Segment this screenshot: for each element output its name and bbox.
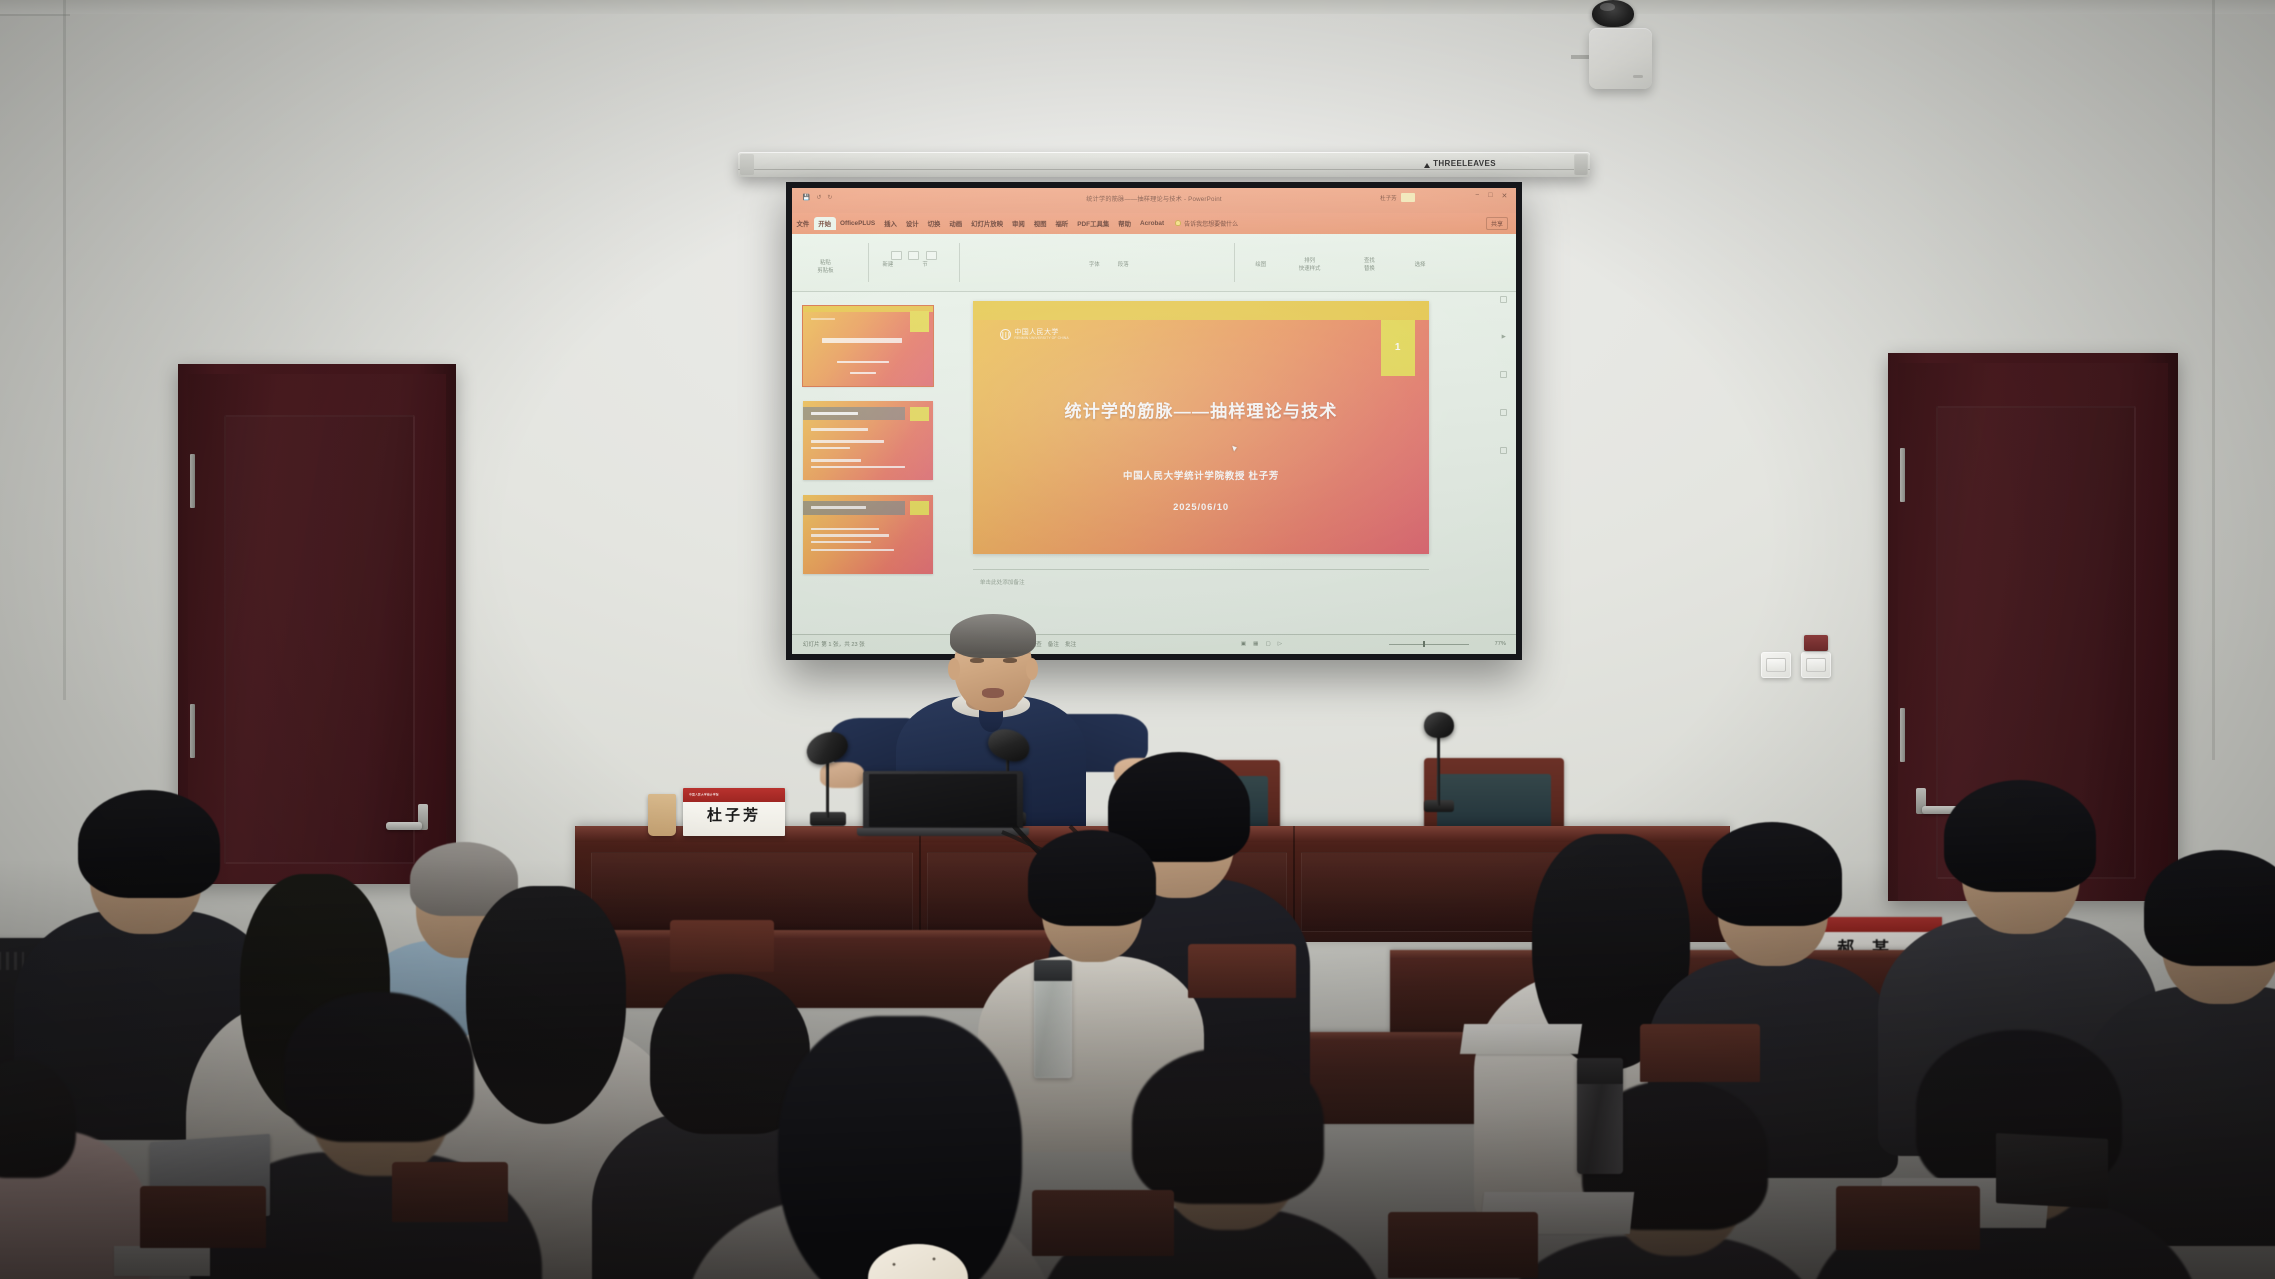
zoom-slider[interactable] xyxy=(1389,644,1469,645)
light-switch-panel[interactable] xyxy=(1761,652,1791,678)
ribbon-group-font[interactable]: 字体 xyxy=(1089,261,1100,269)
presenter-laptop-base xyxy=(857,828,1029,836)
emergency-indicator xyxy=(1804,635,1828,651)
thumb-1-numbox xyxy=(910,311,929,332)
thumb-2-numbox xyxy=(910,407,929,421)
thumb-2-line-4 xyxy=(811,459,860,462)
door-right-hinge-top xyxy=(1900,448,1905,502)
right-task-rail[interactable]: ▶ xyxy=(1496,296,1512,578)
section-label: 节 xyxy=(922,262,927,268)
ribbon-group-arrange[interactable]: 排列 快速样式 xyxy=(1299,257,1321,273)
renmin-logo-icon xyxy=(1000,329,1011,340)
door-left-leaf xyxy=(188,374,446,884)
paper-cup[interactable] xyxy=(648,794,676,836)
view-buttons[interactable]: ▣ ▦ ▢ ▷ xyxy=(1241,641,1282,647)
rail-chip-3[interactable] xyxy=(1500,409,1507,416)
tab-design[interactable]: 设计 xyxy=(901,219,923,228)
slide-title: 统计学的筋脉——抽样理论与技术 xyxy=(973,397,1429,422)
tab-view[interactable]: 视图 xyxy=(1029,219,1051,228)
slide-presenter: 中国人民大学统计学院教授 杜子芳 xyxy=(973,468,1429,482)
minimize-icon[interactable]: − xyxy=(1475,192,1479,200)
rail-chip-1[interactable] xyxy=(1500,296,1507,303)
play-icon[interactable]: ▶ xyxy=(1502,334,1506,340)
slide-thumbnail-2[interactable] xyxy=(803,401,933,481)
tab-review[interactable]: 审阅 xyxy=(1008,219,1030,228)
door-left-handle[interactable] xyxy=(386,822,422,830)
tab-pdf-tools[interactable]: PDF工具集 xyxy=(1073,219,1114,228)
door-left[interactable] xyxy=(178,364,456,884)
housing-endcap-left xyxy=(740,154,754,175)
slide-thumbnail-pane[interactable] xyxy=(798,292,939,654)
door-left-panel xyxy=(224,415,415,864)
ribbon-group-section[interactable]: 节 xyxy=(922,261,927,269)
tab-help[interactable]: 帮助 xyxy=(1114,219,1136,228)
wifi-access-point-icon xyxy=(1589,28,1652,89)
powerpoint-titlebar: 💾 ↺ ↻ 统计学的筋脉——抽样理论与技术 - PowerPoint 杜子芳 −… xyxy=(792,188,1516,213)
attendee-13-hair xyxy=(778,1016,1022,1279)
slide-canvas[interactable]: 1 中国人民大学 RENMIN UNIVERSITY OF CHINA 统计学的… xyxy=(948,292,1455,654)
presenter-hair xyxy=(950,614,1036,658)
power-socket-panel[interactable] xyxy=(1801,652,1831,678)
powerpoint-body: 1 中国人民大学 RENMIN UNIVERSITY OF CHINA 统计学的… xyxy=(792,292,1516,654)
tab-transitions[interactable]: 切换 xyxy=(923,219,945,228)
presenter-ear-right xyxy=(1026,658,1038,680)
ribbon-group-slides[interactable]: 新建 xyxy=(883,261,894,269)
power-socket-face[interactable] xyxy=(1806,658,1826,673)
nameplate-name-text: 杜子芳 xyxy=(683,804,785,825)
ribbon-group-drawing[interactable]: 绘图 xyxy=(1255,261,1266,269)
select-label: 选择 xyxy=(1415,262,1426,268)
mouse-cursor-icon xyxy=(1232,445,1238,452)
normal-view-icon[interactable]: ▣ xyxy=(1241,641,1246,647)
quick-styles-label: 快速样式 xyxy=(1299,266,1321,272)
lightbulb-icon xyxy=(1175,220,1181,226)
thumb-1-sub-line xyxy=(837,361,889,364)
thumb-3-line-1 xyxy=(811,528,879,530)
tell-me-box[interactable]: 告诉我您想要做什么 xyxy=(1175,219,1238,228)
notes-divider xyxy=(973,569,1429,570)
ceiling-trim xyxy=(0,0,2275,14)
tell-me-text: 告诉我您想要做什么 xyxy=(1184,219,1238,228)
thumb-3-line-3 xyxy=(811,541,871,543)
close-icon[interactable]: ✕ xyxy=(1501,192,1507,200)
slide-sorter-view-icon[interactable]: ▦ xyxy=(1253,641,1258,647)
logo-text: 中国人民大学 RENMIN UNIVERSITY OF CHINA xyxy=(1014,329,1068,341)
current-slide[interactable]: 1 中国人民大学 RENMIN UNIVERSITY OF CHINA 统计学的… xyxy=(973,301,1429,554)
room-floor-shadow xyxy=(0,859,2275,1279)
slide-thumbnail-3[interactable] xyxy=(803,495,933,575)
account-avatar[interactable] xyxy=(1401,193,1415,202)
dome-camera-icon xyxy=(1592,0,1634,27)
nameplate-org-band: 中国人民大学统计学院 xyxy=(683,788,785,802)
presenter-mouth xyxy=(982,688,1004,698)
brand-text: THREELEAVES xyxy=(1433,159,1496,168)
tab-acrobat[interactable]: Acrobat xyxy=(1135,220,1168,227)
thumb-2-line-3 xyxy=(811,447,850,450)
ribbon-group-clipboard[interactable]: 粘贴 剪贴板 xyxy=(817,259,833,275)
section-icon[interactable] xyxy=(926,251,937,260)
restore-icon[interactable]: □ xyxy=(1488,192,1492,200)
screen-mount-right xyxy=(1575,155,1587,175)
ribbon-body: 粘贴 剪贴板 新建 节 xyxy=(792,234,1516,292)
light-switch-rocker[interactable] xyxy=(1766,658,1786,673)
zoom-slider-knob[interactable] xyxy=(1423,641,1425,647)
thumb-2-line-1 xyxy=(811,428,868,431)
window-controls[interactable]: − □ ✕ xyxy=(1475,192,1507,200)
projector-screen-housing[interactable]: THREELEAVES xyxy=(738,152,1590,177)
nameplate-org-text: 中国人民大学统计学院 xyxy=(689,793,719,797)
door-right-hinge-bottom xyxy=(1900,708,1905,762)
thumb-3-line-4 xyxy=(811,549,894,551)
housing-seam xyxy=(738,169,1590,170)
ribbon-sep-2 xyxy=(959,243,960,282)
slide-number-box: 1 xyxy=(1381,320,1415,376)
presenter-ear-left xyxy=(948,658,960,680)
projector-screen[interactable]: 💾 ↺ ↻ 统计学的筋脉——抽样理论与技术 - PowerPoint 杜子芳 −… xyxy=(786,182,1522,660)
thumb-2-line-2 xyxy=(811,440,884,443)
ribbon-group-find[interactable]: 查找 替换 xyxy=(1364,257,1375,273)
wall-seam-left xyxy=(63,0,66,700)
thumb-1-logo-line xyxy=(811,318,834,320)
tab-slideshow[interactable]: 幻灯片放映 xyxy=(967,219,1008,228)
wall-seam-right xyxy=(2212,0,2215,760)
presenter-nameplate: 中国人民大学统计学院 杜子芳 xyxy=(683,788,785,836)
ribbon-sep-1 xyxy=(868,243,869,282)
ribbon-group-select[interactable]: 选择 xyxy=(1415,261,1426,269)
thumb-3-line-2 xyxy=(811,534,889,536)
lecture-hall-scene: THREELEAVES 💾 ↺ ↻ 统计学的筋脉——抽样理论与技术 - Powe… xyxy=(0,0,2275,1279)
three-leaves-logo-icon xyxy=(1419,158,1429,168)
account-area[interactable]: 杜子芳 xyxy=(1380,193,1415,202)
notes-placeholder: 单击此处添加备注 xyxy=(980,578,1025,586)
projected-display: 💾 ↺ ↻ 统计学的筋脉——抽样理论与技术 - PowerPoint 杜子芳 −… xyxy=(792,188,1516,654)
tab-foxit[interactable]: 福昕 xyxy=(1051,219,1073,228)
reading-view-icon[interactable]: ▢ xyxy=(1265,641,1270,647)
empty-chair-right[interactable] xyxy=(1424,758,1564,832)
thumb-3-numbox xyxy=(910,501,929,515)
tab-officeplus[interactable]: OfficePLUS xyxy=(836,220,880,227)
powerpoint-window: 💾 ↺ ↻ 统计学的筋脉——抽样理论与技术 - PowerPoint 杜子芳 −… xyxy=(792,188,1516,654)
tab-home[interactable]: 开始 xyxy=(814,217,836,230)
paste-label: 粘贴 xyxy=(820,260,831,266)
find-label: 查找 xyxy=(1364,258,1375,264)
thumb-2-line-5 xyxy=(811,466,905,469)
university-logo: 中国人民大学 RENMIN UNIVERSITY OF CHINA xyxy=(1000,329,1068,341)
tab-file[interactable]: 文件 xyxy=(792,219,814,228)
mic-rear-head xyxy=(1424,712,1454,738)
presenter-eye-right xyxy=(1003,658,1017,663)
new-slide-icon[interactable] xyxy=(891,251,902,260)
logo-en: RENMIN UNIVERSITY OF CHINA xyxy=(1014,337,1068,341)
presenter-laptop-lid xyxy=(863,771,1023,831)
threeleaves-brand: THREELEAVES xyxy=(1419,158,1496,168)
tab-insert[interactable]: 插入 xyxy=(880,219,902,228)
thumb-1-date-line xyxy=(850,372,876,375)
share-button[interactable]: 共享 xyxy=(1486,217,1508,230)
door-left-hinge-bottom xyxy=(190,704,195,758)
rail-chip-2[interactable] xyxy=(1500,371,1507,378)
account-name: 杜子芳 xyxy=(1380,194,1397,202)
slide-accent-bar xyxy=(973,301,1429,320)
presenter-laptop-screen xyxy=(869,774,1016,827)
slide-date: 2025/06/10 xyxy=(973,501,1429,512)
notes-pane[interactable]: 单击此处添加备注 xyxy=(973,567,1429,610)
ribbon-group-paragraph[interactable]: 段落 xyxy=(1118,261,1129,269)
tab-animations[interactable]: 动画 xyxy=(945,219,967,228)
new-slide-label: 新建 xyxy=(883,262,894,268)
drawing-label: 绘图 xyxy=(1255,262,1266,268)
ribbon-icons-slides[interactable] xyxy=(890,247,938,265)
arrange-label: 排列 xyxy=(1304,258,1315,264)
layout-icon[interactable] xyxy=(908,251,919,260)
ribbon-sep-3 xyxy=(1234,243,1235,282)
thumb-2-heading-line xyxy=(811,412,858,416)
presenter-eye-left xyxy=(970,658,984,663)
wall-seam-top-left xyxy=(0,14,70,16)
rail-chip-4[interactable] xyxy=(1500,447,1507,454)
thumb-3-heading-line xyxy=(811,506,866,510)
logo-cn: 中国人民大学 xyxy=(1014,329,1058,336)
paragraph-label: 段落 xyxy=(1118,262,1129,268)
slide-show-view-icon[interactable]: ▷ xyxy=(1278,641,1282,647)
ribbon-tabs[interactable]: 文件 开始 OfficePLUS 插入 设计 切换 动画 幻灯片放映 审阅 视图… xyxy=(792,213,1516,234)
zoom-level[interactable]: 77% xyxy=(1495,641,1506,647)
clipboard-label: 剪贴板 xyxy=(817,268,833,274)
slide-thumbnail-1[interactable] xyxy=(803,306,933,386)
replace-label: 替换 xyxy=(1364,266,1375,272)
font-label: 字体 xyxy=(1089,262,1100,268)
door-left-hinge-top xyxy=(190,454,195,508)
thumb-1-title-line xyxy=(822,338,903,342)
